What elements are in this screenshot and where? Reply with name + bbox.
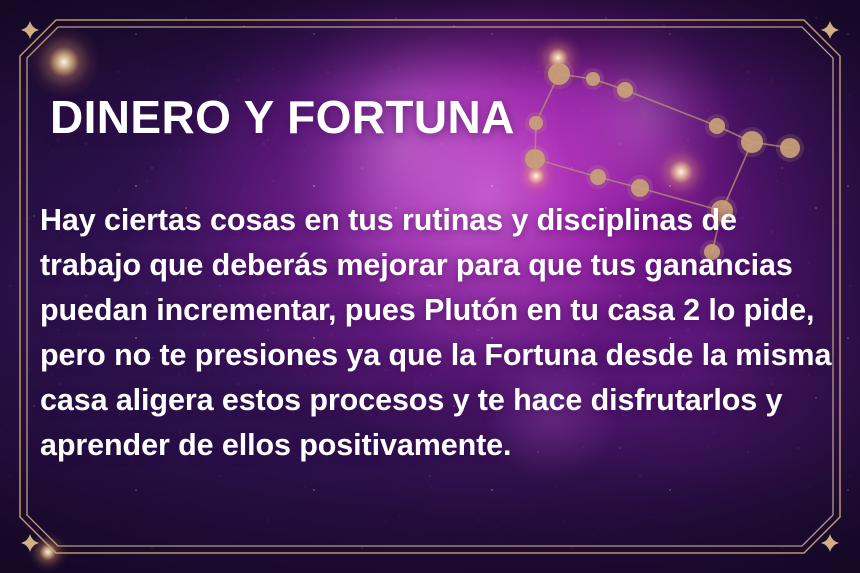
card-content: DINERO Y FORTUNA Hay ciertas cosas en tu… <box>0 0 860 573</box>
page-title: DINERO Y FORTUNA <box>50 94 515 140</box>
body-text: Hay ciertas cosas en tus rutinas y disci… <box>40 198 840 468</box>
horoscope-card: DINERO Y FORTUNA Hay ciertas cosas en tu… <box>0 0 860 573</box>
